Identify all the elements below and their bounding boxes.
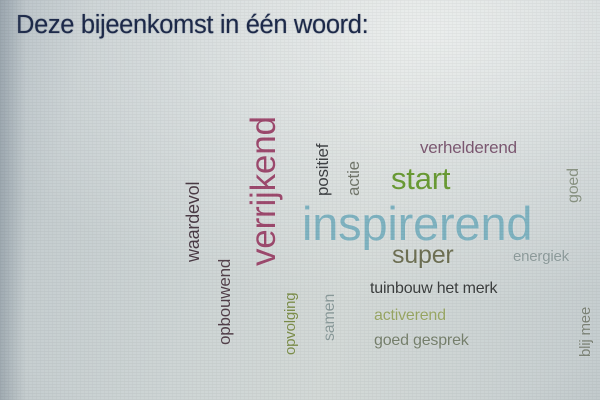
word-cloud-term: samen xyxy=(322,294,338,341)
word-cloud-term: super xyxy=(392,243,454,268)
word-cloud-term: waardevol xyxy=(184,182,202,262)
word-cloud-term: positief xyxy=(314,144,331,196)
word-cloud-term: goed xyxy=(566,168,582,203)
word-cloud-term: tuinbouw het merk xyxy=(370,281,497,297)
word-cloud-term: opvolging xyxy=(283,293,298,355)
word-cloud-term: goed gesprek xyxy=(374,333,469,349)
word-cloud-term: inspirerend xyxy=(302,200,532,247)
word-cloud-term: energiek xyxy=(513,249,569,264)
word-cloud-term: start xyxy=(391,163,450,194)
word-cloud-term: activerend xyxy=(374,308,446,324)
word-cloud-term: verrijkend xyxy=(246,116,281,266)
word-cloud-term: actie xyxy=(345,161,362,196)
presentation-slide: Deze bijeenkomst in één woord: inspirere… xyxy=(0,0,600,400)
word-cloud: inspirerendverrijkendstartsuperverhelder… xyxy=(0,0,600,400)
word-cloud-term: blij mee xyxy=(578,307,593,357)
word-cloud-term: opbouwend xyxy=(216,259,233,345)
word-cloud-term: verhelderend xyxy=(420,139,517,156)
